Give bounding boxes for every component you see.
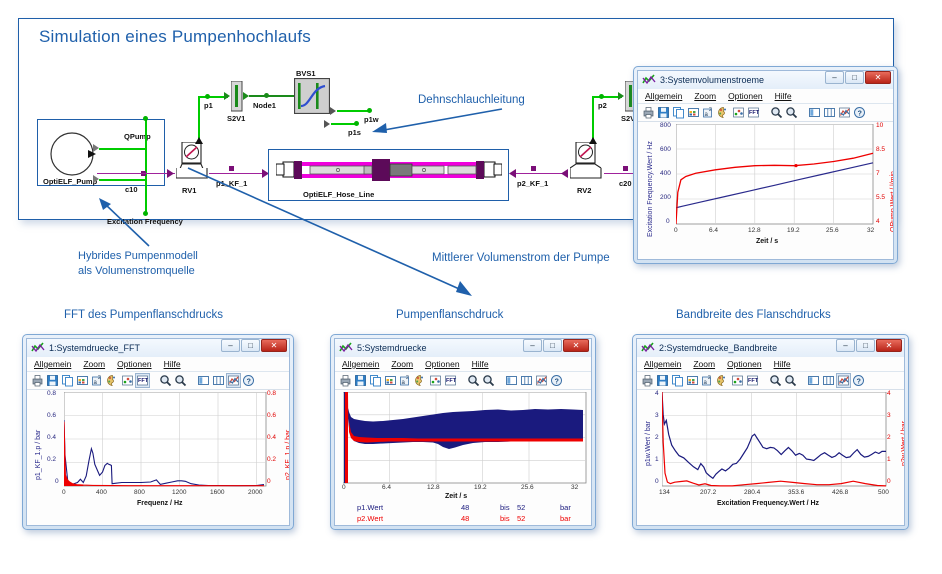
- window-controls[interactable]: – □ ✕: [221, 339, 287, 352]
- menubar[interactable]: Allgemein Zoom Optionen Hilfe: [637, 357, 904, 372]
- plot-canvas-volumestream: [676, 124, 874, 225]
- scatter-icon[interactable]: [732, 106, 745, 119]
- x-tick-5: 500: [878, 489, 889, 496]
- copy-icon[interactable]: [672, 106, 685, 119]
- node-p1s: [354, 121, 359, 126]
- table-icon[interactable]: [384, 374, 397, 387]
- x-tick-1: 6.4: [709, 227, 718, 234]
- y-tick-right-2: 0.4: [267, 434, 276, 441]
- x-tick-2: 800: [134, 489, 145, 496]
- x-tick-5: 32: [867, 227, 874, 234]
- wire-p1s: [331, 123, 356, 125]
- screenshot-root: Simulation eines Pumpenhochlaufs OptiELF…: [0, 0, 942, 574]
- chart-icon[interactable]: [838, 106, 851, 119]
- x-tick-3: 19.2: [474, 484, 487, 491]
- maximize-button[interactable]: □: [543, 339, 562, 352]
- y-tick-left-2: 0.4: [47, 434, 56, 441]
- plot-canvas-pressure: [343, 392, 587, 484]
- menu-optionen[interactable]: Optionen: [425, 359, 460, 369]
- svg-text:FFT: FFT: [749, 110, 760, 116]
- exponent-icon[interactable]: a2: [91, 374, 104, 387]
- y-tick-right-4: 0.8: [267, 390, 276, 397]
- legend-name-p2: p2.Wert: [357, 514, 383, 523]
- print-icon[interactable]: [339, 374, 352, 387]
- y-tick-left-4: 4: [655, 390, 659, 397]
- window-controls[interactable]: – □ ✕: [836, 339, 902, 352]
- node-p1: [205, 94, 210, 99]
- split-vertical-icon[interactable]: [807, 374, 820, 387]
- palette-icon[interactable]: [717, 106, 730, 119]
- toolbar[interactable]: a2 FFT ?: [637, 372, 904, 390]
- minimize-button[interactable]: –: [221, 339, 240, 352]
- legend-unit-p2: bar: [560, 514, 571, 523]
- y-tick-right-0: 0: [887, 478, 891, 485]
- menu-hilfe[interactable]: Hilfe: [472, 359, 489, 369]
- menubar[interactable]: Allgemein Zoom Optionen Hilfe: [27, 357, 289, 372]
- svg-text:?: ?: [555, 378, 559, 385]
- y-tick-right-2: 7: [876, 170, 880, 177]
- copy-icon[interactable]: [369, 374, 382, 387]
- fft-icon[interactable]: FFT: [747, 106, 760, 119]
- chart-icon[interactable]: [837, 374, 850, 387]
- split-horizontal-icon[interactable]: [520, 374, 533, 387]
- toolbar[interactable]: a2 FFT ?: [335, 372, 591, 390]
- menu-zoom[interactable]: Zoom: [693, 359, 715, 369]
- x-tick-4: 426.8: [832, 489, 848, 496]
- annotation-hose-arrow-icon: [370, 104, 505, 136]
- y-tick-right-4: 4: [887, 390, 891, 397]
- arrow-hose-in-icon: [508, 169, 518, 179]
- y-axis-label-left: Excitation Frequency.Wert / Hz: [647, 141, 654, 237]
- window-systemvolumenstroeme[interactable]: 3:Systemvolumenstroeme – □ ✕ Allgemein Z…: [633, 66, 898, 264]
- table-icon[interactable]: [76, 374, 89, 387]
- y-tick-left-3: 0.6: [47, 412, 56, 419]
- zoom-in-icon[interactable]: [770, 106, 783, 119]
- legend-unit-p1: bar: [560, 503, 571, 512]
- x-tick-4: 25.6: [521, 484, 534, 491]
- menu-zoom[interactable]: Zoom: [694, 91, 716, 101]
- c20-label: c20: [619, 179, 632, 188]
- legend-to-p2: 52: [517, 514, 525, 523]
- x-tick-1: 207.2: [700, 489, 716, 496]
- split-horizontal-icon[interactable]: [822, 374, 835, 387]
- window-title: 2:Systemdruecke_Bandbreite: [659, 343, 777, 353]
- table-icon[interactable]: [687, 106, 700, 119]
- help-icon[interactable]: ?: [242, 374, 255, 387]
- wire-hydraulic-pump-to-rv1: [97, 173, 175, 174]
- menu-optionen[interactable]: Optionen: [117, 359, 152, 369]
- wire-qpump-horizontal: [99, 148, 147, 150]
- menu-allgemein[interactable]: Allgemein: [644, 359, 681, 369]
- caption-pressure: Pumpenflanschdruck: [396, 309, 503, 321]
- wire-hose-to-rv2: [511, 173, 567, 174]
- window-systemdruecke[interactable]: 5:Systemdruecke – □ ✕ Allgemein Zoom Opt…: [330, 334, 596, 530]
- node-p2: [599, 94, 604, 99]
- y-axis-label-right: QPump.Wert / l/min: [890, 171, 893, 232]
- toolbar[interactable]: a2 FFT ?: [27, 372, 289, 390]
- x-tick-5: 32: [571, 484, 578, 491]
- menu-allgemein[interactable]: Allgemein: [645, 91, 682, 101]
- y-tick-right-3: 8.5: [876, 146, 885, 153]
- svg-text:?: ?: [247, 378, 251, 385]
- legend-from-p1: 48: [461, 503, 469, 512]
- x-tick-4: 25.6: [826, 227, 839, 234]
- x-axis-label: Excitation Frequency.Wert / Hz: [717, 500, 819, 507]
- menu-allgemein[interactable]: Allgemein: [34, 359, 71, 369]
- x-tick-0: 0: [342, 484, 346, 491]
- y-tick-left-0: 0: [55, 478, 59, 485]
- palette-icon[interactable]: [414, 374, 427, 387]
- split-vertical-icon[interactable]: [197, 374, 210, 387]
- copy-icon[interactable]: [61, 374, 74, 387]
- svg-text:FFT: FFT: [748, 378, 759, 384]
- y-tick-left-4: 0.8: [47, 390, 56, 397]
- scatter-icon[interactable]: [121, 374, 134, 387]
- window-controls[interactable]: – □ ✕: [523, 339, 589, 352]
- x-tick-1: 6.4: [382, 484, 391, 491]
- node1-label: Node1: [253, 101, 276, 110]
- legend-name-p1: p1.Wert: [357, 503, 383, 512]
- zoom-out-icon[interactable]: [174, 374, 187, 387]
- x-axis-label: Zeit / s: [445, 493, 467, 500]
- plot-bandwidth[interactable]: p1w.Wert / bar p2w.Wert / bar Excitation…: [637, 390, 904, 525]
- table-icon[interactable]: [686, 374, 699, 387]
- c10-label: c10: [125, 185, 138, 194]
- fft-icon[interactable]: FFT: [746, 374, 759, 387]
- menu-zoom[interactable]: Zoom: [83, 359, 105, 369]
- bvs1-label: BVS1: [296, 69, 316, 78]
- y-tick-left-2: 2: [655, 434, 659, 441]
- titlebar-systemvolumenstroeme[interactable]: 3:Systemvolumenstroeme – □ ✕: [638, 71, 893, 89]
- p1-label: p1: [204, 101, 213, 110]
- wire-qpump-vertical: [145, 119, 147, 149]
- help-icon[interactable]: ?: [853, 106, 866, 119]
- zoom-in-icon[interactable]: [769, 374, 782, 387]
- window-title: 5:Systemdruecke: [357, 343, 427, 353]
- x-tick-2: 12.8: [427, 484, 440, 491]
- menu-zoom[interactable]: Zoom: [391, 359, 413, 369]
- window-controls[interactable]: – □ ✕: [825, 71, 891, 84]
- y-tick-right-3: 3: [887, 412, 891, 419]
- x-tick-5: 2000: [248, 489, 262, 496]
- p2-kf-1-label: p2_KF_1: [517, 179, 548, 188]
- menu-optionen[interactable]: Optionen: [728, 91, 763, 101]
- wire-node1: [249, 95, 297, 97]
- close-button[interactable]: ✕: [563, 339, 589, 352]
- fft-icon[interactable]: FFT: [136, 374, 149, 387]
- x-tick-3: 19.2: [787, 227, 800, 234]
- svg-text:2: 2: [709, 107, 712, 113]
- legend-bis-p2: bis: [500, 514, 510, 523]
- x-tick-3: 353.6: [788, 489, 804, 496]
- split-vertical-icon[interactable]: [808, 106, 821, 119]
- arrow-rv2-sense-icon: [589, 137, 597, 147]
- titlebar-pressure[interactable]: 5:Systemdruecke – □ ✕: [335, 339, 591, 357]
- svg-text:2: 2: [406, 375, 409, 381]
- y-tick-right-0: 4: [876, 218, 880, 225]
- annotation-pump-arrow-icon: [97, 196, 152, 248]
- pump-label: OptiELF_Pump: [43, 177, 97, 186]
- wire-p1w: [337, 110, 369, 112]
- maximize-button[interactable]: □: [856, 339, 875, 352]
- y-tick-left-3: 600: [660, 146, 671, 153]
- close-button[interactable]: ✕: [876, 339, 902, 352]
- split-horizontal-icon[interactable]: [823, 106, 836, 119]
- save-icon[interactable]: [657, 106, 670, 119]
- y-tick-left-0: 0: [666, 218, 670, 225]
- wire-c10-horizontal: [99, 179, 147, 181]
- zoom-out-icon[interactable]: [785, 106, 798, 119]
- y-tick-right-1: 1: [887, 456, 891, 463]
- zoom-in-icon[interactable]: [467, 374, 480, 387]
- plot-volumestream[interactable]: Excitation Frequency.Wert / Hz QPump.Wer…: [638, 122, 893, 259]
- x-tick-4: 1600: [210, 489, 224, 496]
- plot-pressure[interactable]: 0 6.4 12.8 19.2 25.6 32 Zeit / s p1.Wert…: [335, 390, 591, 525]
- split-horizontal-icon[interactable]: [212, 374, 225, 387]
- caption-bandwidth: Bandbreite des Flanschdrucks: [676, 309, 831, 321]
- svg-text:FFT: FFT: [446, 378, 457, 384]
- close-button[interactable]: ✕: [261, 339, 287, 352]
- menu-allgemein[interactable]: Allgemein: [342, 359, 379, 369]
- exponent-icon[interactable]: a2: [701, 374, 714, 387]
- y-tick-right-0: 0: [267, 478, 271, 485]
- scatter-icon[interactable]: [429, 374, 442, 387]
- x-tick-0: 0: [62, 489, 66, 496]
- y-tick-right-1: 5.5: [876, 194, 885, 201]
- p1s-label: p1s: [348, 128, 361, 137]
- zoom-in-icon[interactable]: [159, 374, 172, 387]
- y-tick-right-3: 0.6: [267, 412, 276, 419]
- print-icon[interactable]: [642, 106, 655, 119]
- svg-text:?: ?: [857, 378, 861, 385]
- menu-optionen[interactable]: Optionen: [727, 359, 762, 369]
- y-axis-label-left: p1_KF_1.p / bar: [35, 430, 42, 480]
- palette-icon[interactable]: [716, 374, 729, 387]
- exponent-icon[interactable]: a2: [399, 374, 412, 387]
- plot-canvas-bandwidth: [662, 392, 887, 487]
- close-button[interactable]: ✕: [865, 71, 891, 84]
- pump-symbol-icon: [47, 132, 99, 177]
- window-title: 1:Systemdruecke_FFT: [49, 343, 140, 353]
- minimize-button[interactable]: –: [836, 339, 855, 352]
- rv2-label: RV2: [577, 186, 591, 195]
- x-tick-2: 280.4: [744, 489, 760, 496]
- y-tick-left-1: 200: [660, 194, 671, 201]
- titlebar-fft[interactable]: 1:Systemdruecke_FFT – □ ✕: [27, 339, 289, 357]
- x-tick-3: 1200: [172, 489, 186, 496]
- s2v1-label: S2V1: [227, 114, 245, 123]
- svg-text:2: 2: [98, 375, 101, 381]
- y-tick-right-4: 10: [876, 122, 883, 129]
- node-node1: [264, 93, 269, 98]
- menu-hilfe[interactable]: Hilfe: [775, 91, 792, 101]
- palette-icon[interactable]: [106, 374, 119, 387]
- y-axis-label-left: p1w.Wert / bar: [645, 421, 652, 466]
- menu-hilfe[interactable]: Hilfe: [774, 359, 791, 369]
- toolbar[interactable]: a2 FFT ?: [638, 104, 893, 122]
- help-icon[interactable]: ?: [852, 374, 865, 387]
- p2-label: p2: [598, 101, 607, 110]
- titlebar-bandwidth[interactable]: 2:Systemdruecke_Bandbreite – □ ✕: [637, 339, 904, 357]
- menubar[interactable]: Allgemein Zoom Optionen Hilfe: [638, 89, 893, 104]
- page-title: Simulation eines Pumpenhochlaufs: [39, 27, 311, 47]
- legend-from-p2: 48: [461, 514, 469, 523]
- arrow-to-rv2-icon: [560, 169, 570, 179]
- annotation-pump-line2: als Volumenstromquelle: [78, 264, 195, 279]
- y-tick-left-2: 400: [660, 170, 671, 177]
- fft-icon[interactable]: FFT: [444, 374, 457, 387]
- y-tick-left-3: 3: [655, 412, 659, 419]
- y-tick-right-1: 0.2: [267, 456, 276, 463]
- svg-text:FFT: FFT: [138, 378, 149, 384]
- y-axis-label-right: p2_KF_1.p / bar: [285, 430, 289, 480]
- scatter-icon[interactable]: [731, 374, 744, 387]
- zoom-out-icon[interactable]: [482, 374, 495, 387]
- port-arrow-pump-bottom-icon: [93, 175, 102, 184]
- window-title: 3:Systemvolumenstroeme: [660, 75, 764, 85]
- x-tick-1: 400: [96, 489, 107, 496]
- arrow-rv1-sense-icon: [195, 137, 203, 147]
- connector-p2kf1: [531, 166, 536, 171]
- svg-text:2: 2: [708, 375, 711, 381]
- x-tick-0: 0: [674, 227, 678, 234]
- maximize-button[interactable]: □: [845, 71, 864, 84]
- save-icon[interactable]: [656, 374, 669, 387]
- print-icon[interactable]: [641, 374, 654, 387]
- save-icon[interactable]: [46, 374, 59, 387]
- plot-canvas-fft: [64, 392, 267, 487]
- minimize-button[interactable]: –: [825, 71, 844, 84]
- y-tick-left-1: 1: [655, 456, 659, 463]
- x-tick-0: 134: [659, 489, 670, 496]
- print-icon[interactable]: [31, 374, 44, 387]
- exponent-icon[interactable]: a2: [702, 106, 715, 119]
- x-tick-2: 12.8: [748, 227, 761, 234]
- save-icon[interactable]: [354, 374, 367, 387]
- legend-to-p1: 52: [517, 503, 525, 512]
- chart-window-icon: [339, 342, 353, 354]
- y-tick-left-4: 800: [660, 122, 671, 129]
- x-axis-label: Frequenz / Hz: [137, 500, 183, 507]
- y-axis-label-right: p2w.Wert / bar: [901, 421, 904, 466]
- s2v1-block-icon[interactable]: [231, 81, 243, 112]
- annotation-pressure-arrow-icon: [186, 166, 476, 301]
- plot-fft[interactable]: p1_KF_1.p / bar p2_KF_1.p / bar Frequenz…: [27, 390, 289, 525]
- copy-icon[interactable]: [671, 374, 684, 387]
- split-vertical-icon[interactable]: [505, 374, 518, 387]
- chart-icon[interactable]: [535, 374, 548, 387]
- annotation-pump-line1: Hybrides Pumpenmodell: [78, 249, 198, 264]
- chart-window-icon: [642, 74, 656, 86]
- chart-window-icon: [31, 342, 45, 354]
- x-axis-label: Zeit / s: [756, 238, 778, 245]
- chart-window-icon: [641, 342, 655, 354]
- node-qpump-top: [143, 116, 148, 121]
- menubar[interactable]: Allgemein Zoom Optionen Hilfe: [335, 357, 591, 372]
- caption-fft: FFT des Pumpenflanschdrucks: [64, 309, 223, 321]
- legend-bis-p1: bis: [500, 503, 510, 512]
- window-systemdruecke-fft[interactable]: 1:Systemdruecke_FFT – □ ✕ Allgemein Zoom…: [22, 334, 294, 530]
- y-tick-right-2: 2: [887, 434, 891, 441]
- window-systemdruecke-bandbreite[interactable]: 2:Systemdruecke_Bandbreite – □ ✕ Allgeme…: [632, 334, 909, 530]
- y-tick-left-0: 0: [655, 478, 659, 485]
- menu-hilfe[interactable]: Hilfe: [164, 359, 181, 369]
- y-tick-left-1: 0.2: [47, 456, 56, 463]
- zoom-out-icon[interactable]: [784, 374, 797, 387]
- bvs1-block-icon[interactable]: [294, 78, 330, 114]
- minimize-button[interactable]: –: [523, 339, 542, 352]
- rv2-valve-icon[interactable]: [570, 142, 604, 182]
- chart-icon[interactable]: [227, 374, 240, 387]
- port-arrow-pump-top-icon: [93, 144, 102, 153]
- help-icon[interactable]: ?: [550, 374, 563, 387]
- connector-c20: [623, 166, 628, 171]
- maximize-button[interactable]: □: [241, 339, 260, 352]
- svg-text:?: ?: [858, 110, 862, 117]
